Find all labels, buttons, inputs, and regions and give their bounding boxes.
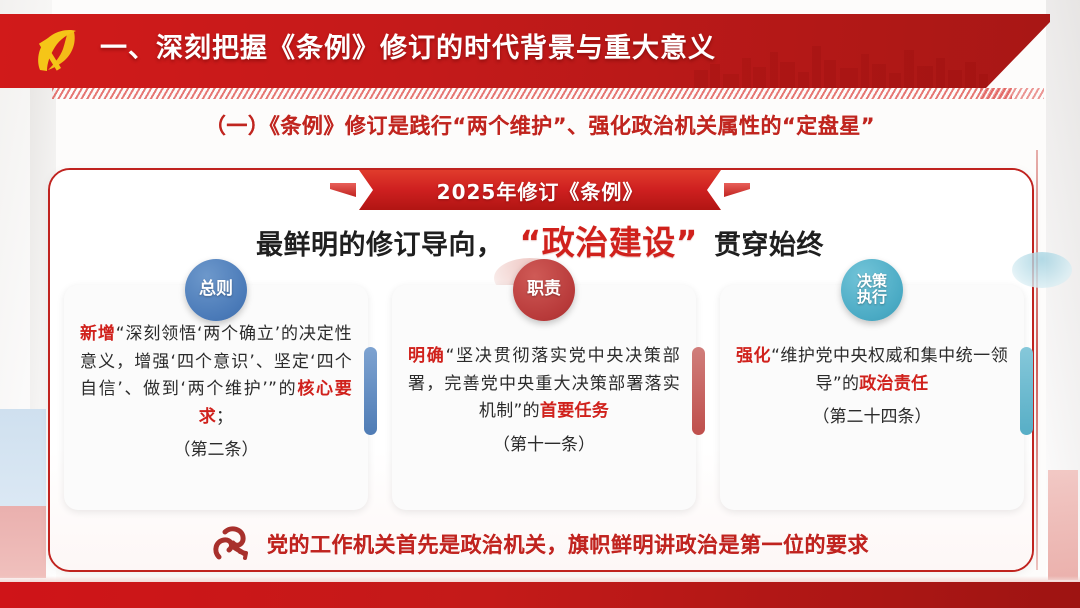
- card-reference-general-principles: （第二条）: [80, 435, 352, 460]
- left-decor-blue-block: [0, 409, 46, 506]
- card-keyword-start: 明确: [408, 346, 446, 366]
- section-subtitle: （一）《条例》修订是践行“两个维护”、强化政治机关属性的“定盘星”: [0, 110, 1080, 140]
- card-reference-decision-execution: （第二十四条）: [736, 402, 1008, 427]
- card-tab-blue: [364, 347, 377, 435]
- badge-line-1: 职责: [527, 281, 561, 299]
- party-emblem-hammer-sickle-icon: [30, 26, 86, 76]
- card-general-principles[interactable]: 总则 新增“深刻领悟‘两个确立’的决定性意义，增强‘四个意识’、坚定‘四个自信’…: [64, 285, 368, 510]
- card-text-tail: ；: [216, 407, 233, 427]
- card-tab-teal: [1020, 347, 1033, 435]
- headline-lead: 最鲜明的修订导向，: [256, 223, 504, 262]
- card-keyword-end: 首要任务: [540, 401, 609, 421]
- page-title: 一、深刻把握《条例》修订的时代背景与重大意义: [100, 26, 716, 65]
- bottom-bar: [0, 582, 1080, 608]
- card-decision-execution[interactable]: 决策 执行 强化“维护党中央权威和集中统一领导”的政治责任 （第二十四条）: [720, 285, 1024, 510]
- footer-text: 党的工作机关首先是政治机关，旗帜鲜明讲政治是第一位的要求: [267, 529, 869, 559]
- main-headline: 最鲜明的修订导向， “政治建设” 贯穿始终: [0, 216, 1080, 264]
- badge-duties: 职责: [513, 259, 575, 321]
- badge-decision-execution: 决策 执行: [841, 259, 903, 321]
- card-keyword-start: 强化: [736, 346, 771, 366]
- ribbon-banner: 2025年修订《条例》: [359, 170, 721, 210]
- right-decor-red-line: [1036, 150, 1038, 570]
- slide-root: 一、深刻把握《条例》修订的时代背景与重大意义 （一）《条例》修订是践行“两个维护…: [0, 0, 1080, 608]
- headline-tail: 贯穿始终: [714, 223, 824, 262]
- card-group: 总则 新增“深刻领悟‘两个确立’的决定性意义，增强‘四个意识’、坚定‘四个自信’…: [64, 285, 1024, 510]
- card-reference-duties: （第十一条）: [408, 430, 680, 455]
- card-keyword-start: 新增: [80, 324, 116, 344]
- headline-highlight: “政治建设”: [520, 216, 698, 264]
- badge-line-1: 总则: [199, 281, 233, 299]
- header-hatch-strip-right: [980, 88, 1044, 99]
- card-body-general-principles: 新增“深刻领悟‘两个确立’的决定性意义，增强‘四个意识’、坚定‘四个自信’、做到…: [80, 319, 352, 431]
- card-tab-red: [692, 347, 705, 435]
- card-body-decision-execution: 强化“维护党中央权威和集中统一领导”的政治责任: [736, 319, 1008, 398]
- badge-general-principles: 总则: [185, 259, 247, 321]
- card-duties[interactable]: 职责 明确“坚决贯彻落实党中央决策部署，完善党中央重大决策部署落实机制”的首要任…: [392, 285, 696, 510]
- card-body-duties: 明确“坚决贯彻落实党中央决策部署，完善党中央重大决策部署落实机制”的首要任务: [408, 319, 680, 426]
- badge-line-2: 执行: [857, 290, 887, 306]
- ribbon-arrow-icon: [211, 524, 253, 564]
- footer-statement: 党的工作机关首先是政治机关，旗帜鲜明讲政治是第一位的要求: [0, 524, 1080, 564]
- ribbon-label: 2025年修订《条例》: [437, 176, 644, 205]
- city-skyline-silhouette-icon: [690, 40, 990, 88]
- header-hatch-strip: [52, 88, 1012, 99]
- card-keyword-end: 政治责任: [859, 374, 928, 394]
